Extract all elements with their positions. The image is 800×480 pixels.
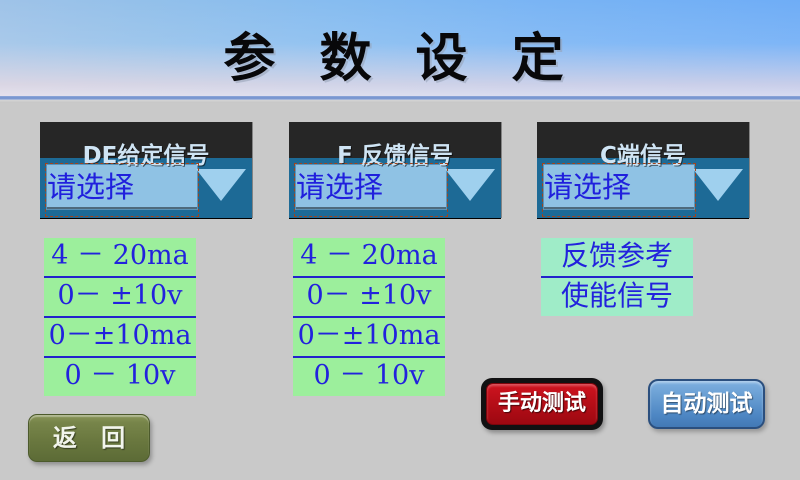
select-input-value: 请选择 xyxy=(47,170,199,204)
select-input-c-terminal-signal[interactable]: 请选择 xyxy=(543,164,695,210)
option-item[interactable]: 4 － 20ma xyxy=(44,238,196,278)
option-list-f-feedback-signal: 4 － 20ma 0－ ±10v 0－±10ma 0 － 10v xyxy=(293,238,445,396)
option-item[interactable]: 0 － 10v xyxy=(44,358,196,396)
panel-body: F 反馈信号 请选择 xyxy=(289,122,501,218)
option-list-c-terminal-signal: 反馈参考 使能信号 xyxy=(541,238,693,316)
panel-body: C端信号 请选择 xyxy=(537,122,749,218)
back-button[interactable]: 返 回 xyxy=(28,414,150,462)
option-item[interactable]: 0－ ±10v xyxy=(293,278,445,318)
chevron-down-icon[interactable] xyxy=(196,169,246,201)
panel-title-f-feedback-signal: F 反馈信号 xyxy=(289,136,501,170)
header-divider-shadow xyxy=(0,100,800,103)
panel-c-terminal-signal: C端信号 请选择 xyxy=(537,122,749,218)
option-item[interactable]: 0－ ±10v xyxy=(44,278,196,318)
select-input-value: 请选择 xyxy=(296,170,448,204)
option-item[interactable]: 0 － 10v xyxy=(293,358,445,396)
select-input-de-given-signal[interactable]: 请选择 xyxy=(46,164,198,210)
panel-f-feedback-signal: F 反馈信号 请选择 xyxy=(289,122,501,218)
page-title: 参 数 设 定 xyxy=(0,16,800,91)
option-item[interactable]: 0－±10ma xyxy=(293,318,445,358)
auto-test-button[interactable]: 自动测试 xyxy=(648,379,765,429)
option-item[interactable]: 4 － 20ma xyxy=(293,238,445,278)
select-input-f-feedback-signal[interactable]: 请选择 xyxy=(295,164,447,210)
select-input-value: 请选择 xyxy=(544,170,696,204)
chevron-down-icon[interactable] xyxy=(693,169,743,201)
manual-test-button-frame: 手动测试 xyxy=(481,378,603,430)
panel-body: DE给定信号 请选择 xyxy=(40,122,252,218)
parameter-settings-screen: 参 数 设 定 DE给定信号 请选择 4 － 20ma 0－ ±10v 0－±1… xyxy=(0,0,800,480)
manual-test-button[interactable]: 手动测试 xyxy=(486,383,598,425)
option-list-de-given-signal: 4 － 20ma 0－ ±10v 0－±10ma 0 － 10v xyxy=(44,238,196,396)
chevron-down-icon[interactable] xyxy=(445,169,495,201)
option-item[interactable]: 使能信号 xyxy=(541,278,693,316)
panel-de-given-signal: DE给定信号 请选择 xyxy=(40,122,252,218)
panel-title-c-terminal-signal: C端信号 xyxy=(537,136,749,170)
option-item[interactable]: 0－±10ma xyxy=(44,318,196,358)
panel-title-de-given-signal: DE给定信号 xyxy=(40,136,252,170)
option-item[interactable]: 反馈参考 xyxy=(541,238,693,278)
